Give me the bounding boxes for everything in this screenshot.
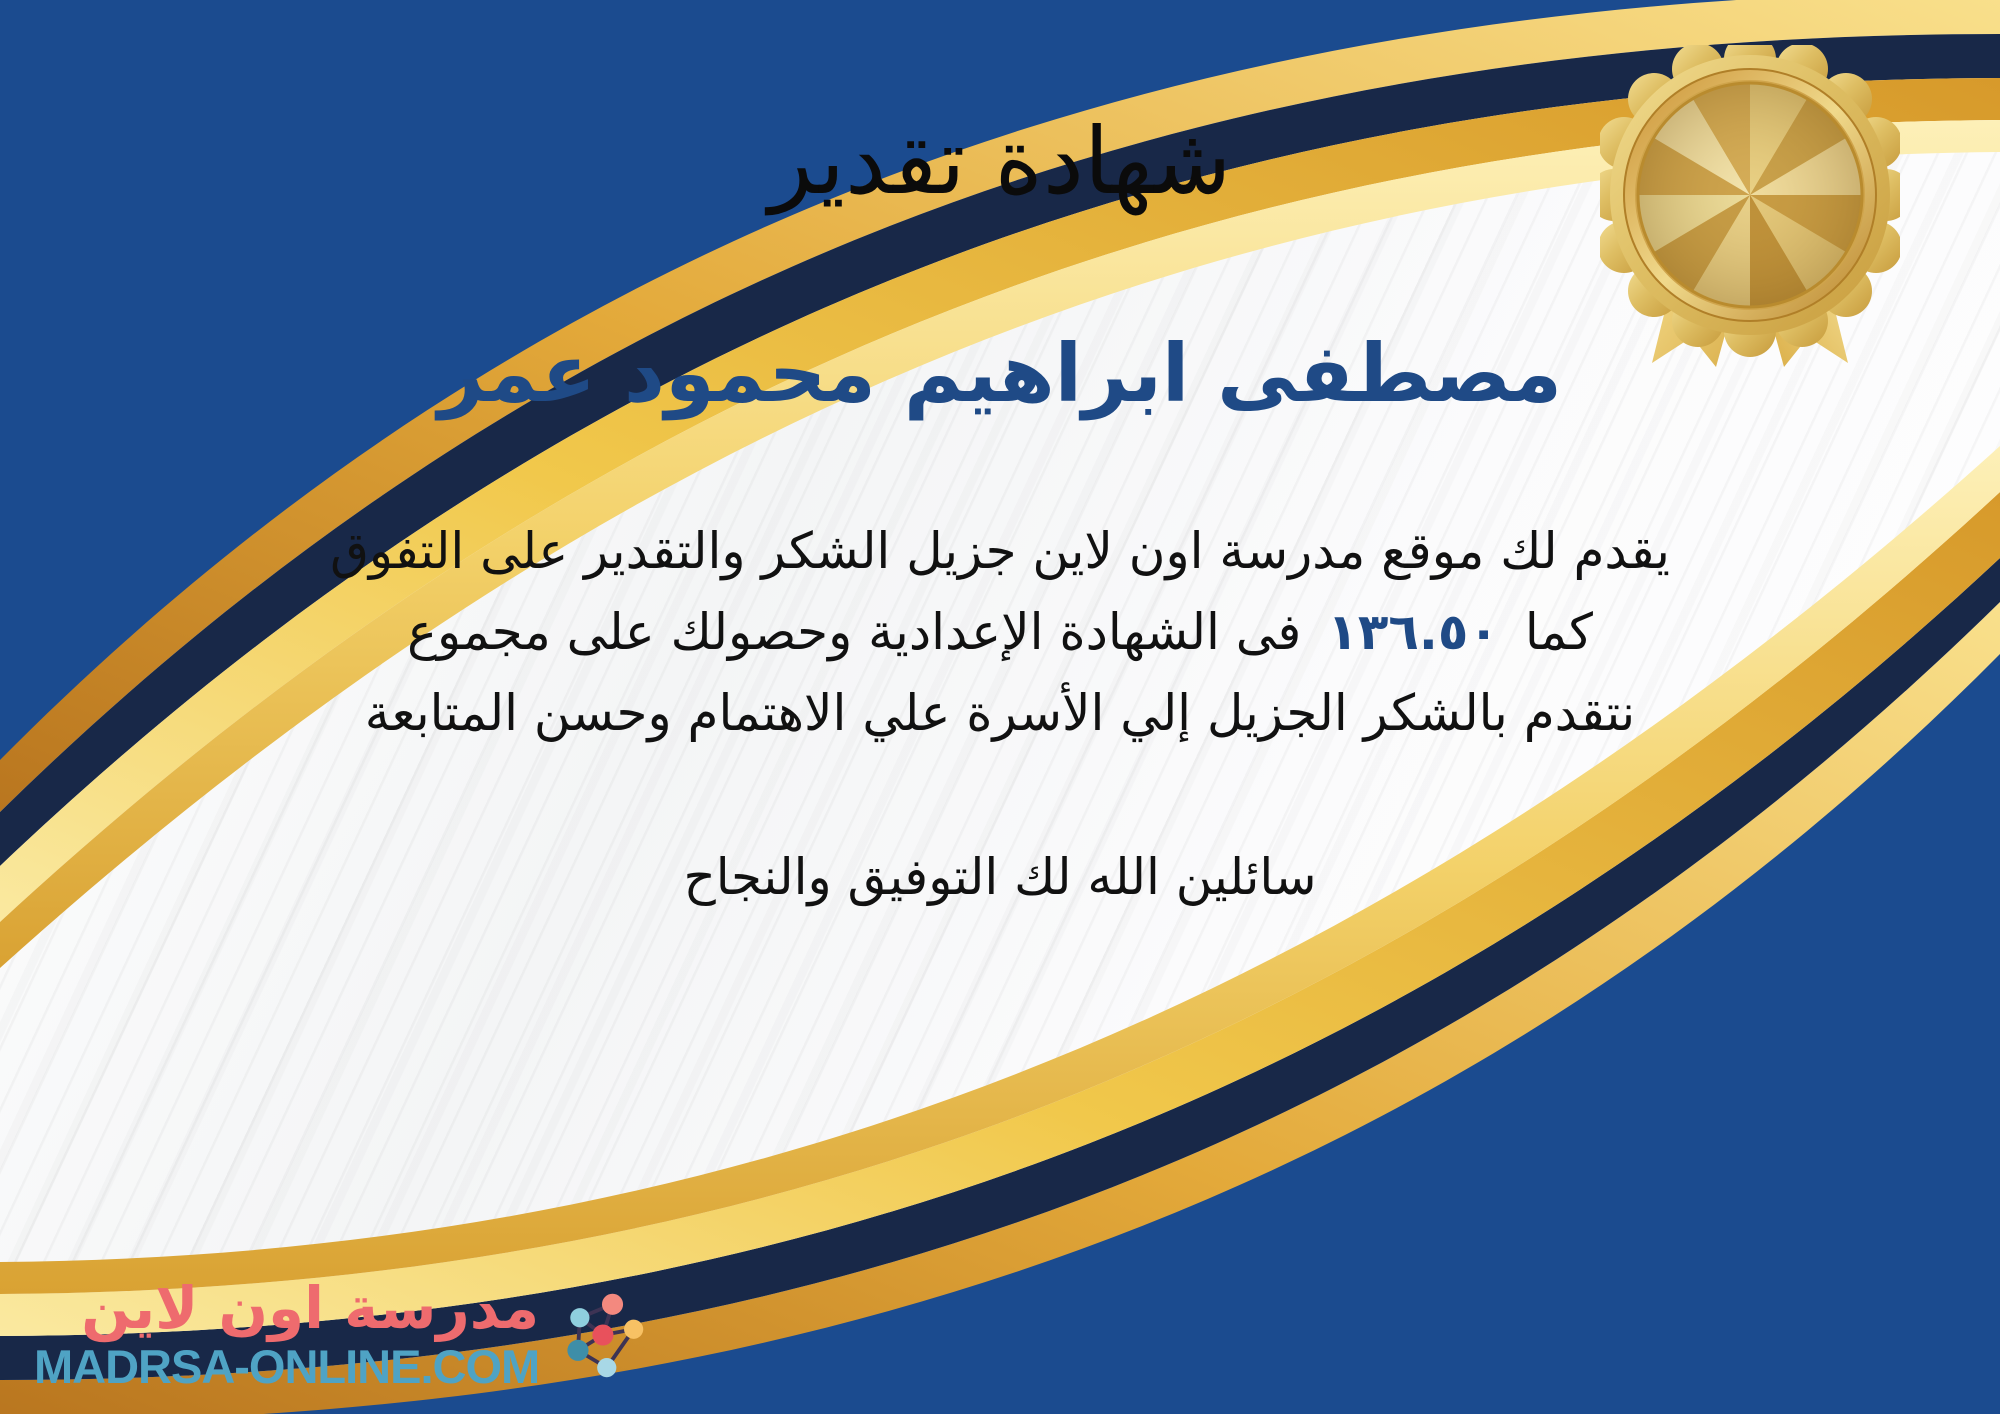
logo-website: MADRSA-ONLINE.COM [34, 1343, 539, 1390]
body-line-1: يقدم لك موقع مدرسة اون لاين جزيل الشكر و… [220, 511, 1780, 592]
body-line-2-prefix: فى الشهادة الإعدادية وحصولك على مجموع [407, 603, 1301, 661]
logo-arabic-name: مدرسة اون لاين [81, 1279, 539, 1337]
body-line-3: نتقدم بالشكر الجزيل إلي الأسرة علي الاهت… [220, 673, 1780, 754]
logo-text-group: مدرسة اون لاين MADRSA-ONLINE.COM [34, 1279, 539, 1390]
page-title: شهادة تقدير [769, 112, 1232, 211]
body-line-2: كما١٣٦.٥٠فى الشهادة الإعدادية وحصولك على… [220, 592, 1780, 673]
certificate-content: شهادة تقدير مصطفى ابراهيم محمود عمر يقدم… [0, 0, 2000, 1414]
site-logo[interactable]: مدرسة اون لاين MADRSA-ONLINE.COM [34, 1279, 649, 1390]
score-value: ١٣٦.٥٠ [1301, 592, 1525, 673]
student-name: مصطفى ابراهيم محمود عمر [438, 329, 1562, 419]
closing-line: سائلين الله لك التوفيق والنجاح [683, 840, 1316, 915]
body-line-2-suffix: كما [1525, 603, 1593, 661]
network-nodes-icon [553, 1287, 649, 1383]
certificate-body: يقدم لك موقع مدرسة اون لاين جزيل الشكر و… [220, 511, 1780, 754]
certificate-page: شهادة تقدير مصطفى ابراهيم محمود عمر يقدم… [0, 0, 2000, 1414]
